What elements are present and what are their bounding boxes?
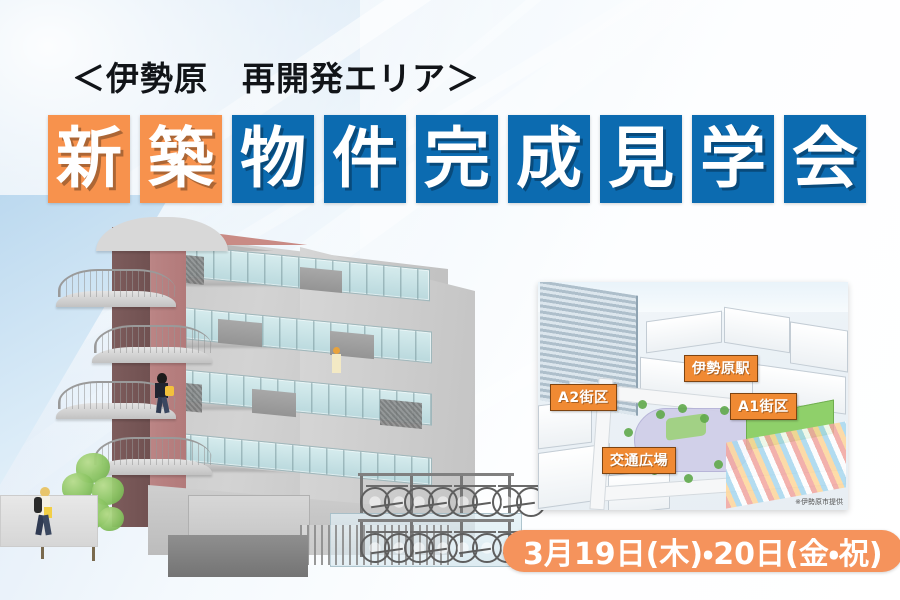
headline-tiles: 新 築 物 件 完 成 見 学 会 <box>48 115 866 203</box>
map-label-station: 伊勢原駅 <box>684 355 758 382</box>
map-block <box>724 307 790 353</box>
promo-banner: A2街区 伊勢原駅 A1街区 交通広場 ※伊勢原市提供 ＜伊勢原 再開発エリア＞… <box>0 0 900 600</box>
person-pedestrian <box>32 487 54 539</box>
person-on-balcony <box>330 347 342 373</box>
kicker-text: ＜伊勢原 再開発エリア＞ <box>72 52 480 100</box>
map-label-a1: A1街区 <box>730 393 797 420</box>
headline-tile: 完 <box>416 115 498 203</box>
balcony-screen-floor2-right <box>380 399 422 429</box>
map-label-a2: A2街区 <box>550 384 617 411</box>
headline-tile: 新 <box>48 115 130 203</box>
headline-tile: 学 <box>692 115 774 203</box>
balcony-partition-floor2 <box>252 389 296 417</box>
map-label-plaza: 交通広場 <box>602 447 676 474</box>
stair-rail-3 <box>94 325 212 353</box>
stair-rail-4 <box>58 269 176 297</box>
headline-tile: 物 <box>232 115 314 203</box>
building-rendering <box>0 195 560 600</box>
map-block <box>790 321 848 372</box>
headline-tile: 築 <box>140 115 222 203</box>
map-block <box>646 311 722 354</box>
headline-tile: 成 <box>508 115 590 203</box>
headline-tile: 見 <box>600 115 682 203</box>
event-date-badge: 3月19日(木)・20日(金・祝) <box>503 530 900 572</box>
headline-tile: 会 <box>784 115 866 203</box>
person-on-stairs <box>152 373 172 413</box>
balcony-partition-floor4 <box>300 267 342 293</box>
map-credit: ※伊勢原市提供 <box>795 497 843 507</box>
ground-planter-box <box>168 535 308 577</box>
headline-tile: 件 <box>324 115 406 203</box>
balcony-partition-floor3a <box>218 319 262 347</box>
redevelopment-map-inset: A2街区 伊勢原駅 A1街区 交通広場 ※伊勢原市提供 <box>538 282 848 510</box>
